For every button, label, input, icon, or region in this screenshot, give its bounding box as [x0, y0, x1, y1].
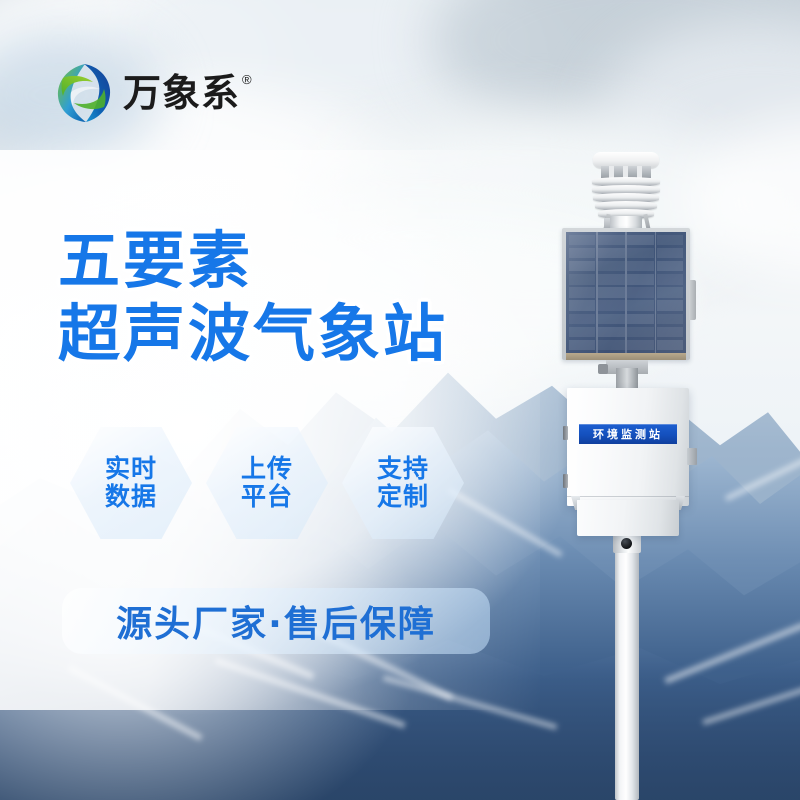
brand-name: 万象系: [123, 74, 240, 112]
feature-badge-line-1: 上传: [241, 455, 293, 483]
headline-block: 五要素 超声波气象站: [58, 224, 448, 370]
feature-badge-line-1: 支持: [377, 455, 429, 483]
registered-trademark-icon: ®: [242, 72, 252, 87]
headline-line-2: 超声波气象站: [58, 297, 448, 370]
globe-swirl-logo-icon: [55, 62, 113, 124]
feature-badge-row: 实时 数据 上传 平台 支持 定制: [70, 427, 464, 539]
brand-logo[interactable]: 万象系 ®: [55, 62, 252, 124]
guarantee-banner[interactable]: 源头厂家·售后保障: [62, 588, 490, 654]
feature-badge-line-2: 数据: [105, 483, 157, 511]
guarantee-banner-text: 源头厂家·售后保障: [116, 595, 436, 647]
poster-canvas: 环境监测站: [0, 0, 800, 800]
feature-badge-upload-platform[interactable]: 上传 平台: [206, 427, 328, 539]
feature-badge-line-2: 平台: [241, 483, 293, 511]
feature-badge-customization[interactable]: 支持 定制: [342, 427, 464, 539]
headline-line-1: 五要素: [58, 224, 448, 297]
feature-badge-line-1: 实时: [105, 455, 157, 483]
feature-badge-line-2: 定制: [377, 483, 429, 511]
feature-badge-realtime-data[interactable]: 实时 数据: [70, 427, 192, 539]
